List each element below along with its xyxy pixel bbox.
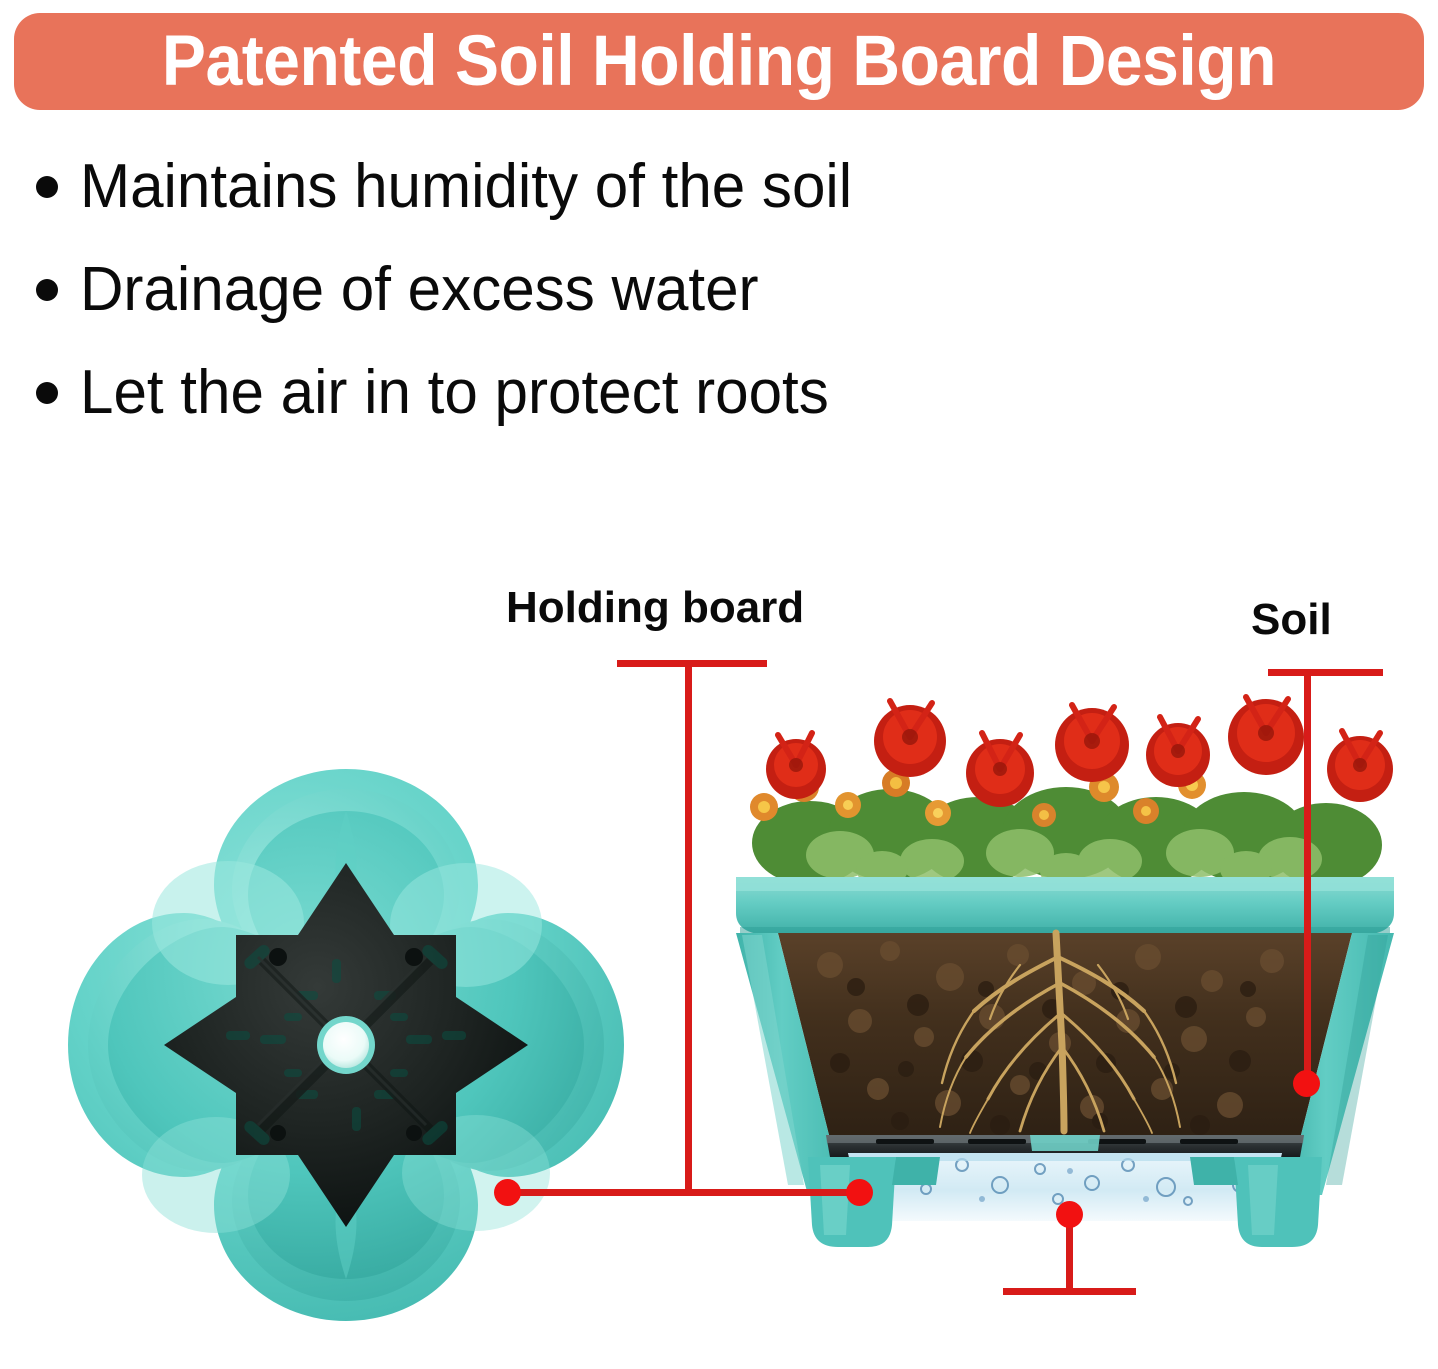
feature-label: Let the air in to protect roots xyxy=(80,356,829,430)
leader-bar-soil xyxy=(1268,669,1383,676)
pot-rim xyxy=(736,877,1394,935)
feature-label: Drainage of excess water xyxy=(80,253,759,327)
feature-label: Maintains humidity of the soil xyxy=(80,150,852,224)
flower-cluster xyxy=(750,697,1393,889)
callout-label-holding-board: Holding board xyxy=(506,582,804,634)
list-item: Maintains humidity of the soil xyxy=(36,150,1136,253)
soil-body xyxy=(778,933,1352,1139)
leader-dot-holding-board-left xyxy=(494,1179,521,1206)
leader-bar-holding-board xyxy=(617,660,767,667)
leader-dot-soil xyxy=(1293,1070,1320,1097)
leader-dot-water xyxy=(1056,1201,1083,1228)
leader-dot-holding-board-right xyxy=(846,1179,873,1206)
leader-line-soil xyxy=(1304,669,1311,1083)
title-banner: Patented Soil Holding Board Design xyxy=(14,13,1424,110)
leader-bar-water xyxy=(1003,1288,1136,1295)
bullet-dot-icon xyxy=(36,382,58,404)
product-diagram: Holding board Soil Water xyxy=(0,470,1438,1369)
list-item: Let the air in to protect roots xyxy=(36,356,1136,459)
callout-label-soil: Soil xyxy=(1251,594,1332,646)
feature-list: Maintains humidity of the soil Drainage … xyxy=(36,150,1136,459)
leader-line-holding-board-horizontal xyxy=(508,1189,863,1196)
list-item: Drainage of excess water xyxy=(36,253,1136,356)
quatrefoil-planter-top-view xyxy=(46,745,646,1345)
page-title: Patented Soil Holding Board Design xyxy=(162,26,1276,97)
planter-top-svg xyxy=(46,745,646,1345)
bullet-dot-icon xyxy=(36,279,58,301)
leader-line-holding-board-vertical xyxy=(685,660,692,1192)
bullet-dot-icon xyxy=(36,176,58,198)
infographic-page: Patented Soil Holding Board Design Maint… xyxy=(0,0,1438,1369)
